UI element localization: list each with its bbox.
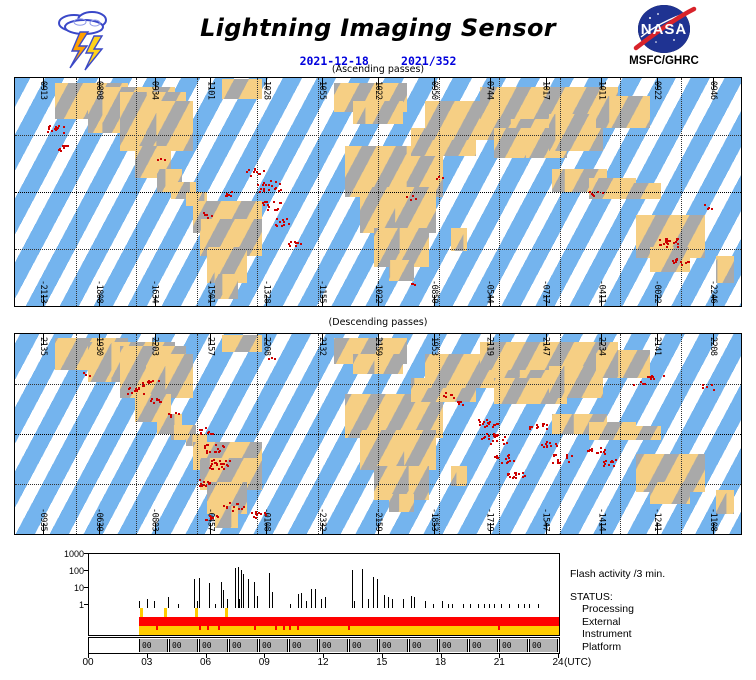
land-shape: [146, 354, 193, 398]
flash-point: [264, 512, 266, 514]
flash-point: [226, 464, 228, 466]
orbit-time-label: -1108: [708, 508, 718, 531]
legend-status-platform: Platform: [570, 641, 665, 654]
flash-point: [651, 375, 653, 377]
flash-point: [199, 479, 201, 481]
flash-point: [543, 423, 545, 425]
flash-point: [713, 389, 715, 391]
flash-point: [518, 473, 520, 475]
orbit-time-label: 1101: [205, 81, 215, 99]
land-shape: [222, 335, 262, 352]
platform-orbit-block: 00: [409, 639, 438, 652]
ascending-passes-map[interactable]: 0913080809341101102810551022095007441017…: [14, 77, 742, 307]
y-axis-tick-label: 100: [69, 566, 84, 576]
land-swath-overlay: [451, 466, 467, 486]
flash-point: [613, 465, 615, 467]
flash-bar: [235, 568, 236, 609]
flash-point: [63, 126, 65, 128]
flash-point: [204, 447, 206, 449]
chart-legend: Flash activity /3 min. STATUS: Processin…: [570, 568, 665, 653]
flash-point: [676, 259, 678, 261]
orbit-time-label: 1011: [596, 81, 606, 99]
flash-point: [279, 183, 281, 185]
flash-point: [295, 245, 297, 247]
land-shape: [650, 247, 690, 272]
equator-line: [15, 192, 741, 193]
flash-point: [571, 455, 573, 457]
flash-point: [164, 159, 166, 161]
x-axis-tick-label: 15: [372, 657, 392, 668]
flash-point: [150, 400, 152, 402]
flash-bar: [194, 579, 195, 609]
x-axis-tick-label: 06: [196, 657, 216, 668]
flash-bar: [384, 595, 385, 609]
flash-activity-chart[interactable]: 1000100101 0000000000000000000000000000 …: [88, 553, 558, 645]
flash-point: [556, 445, 558, 447]
flash-point: [222, 445, 224, 447]
flash-point: [711, 384, 713, 386]
orbit-time-label: 1953: [429, 337, 439, 355]
flash-point: [484, 436, 486, 438]
flash-point: [275, 181, 277, 183]
land-swath-overlay: [650, 247, 690, 272]
orbit-time-label: 2159: [373, 337, 383, 355]
flash-point: [218, 451, 220, 453]
flash-point: [56, 128, 58, 130]
flash-point: [488, 435, 490, 437]
land-shape: [451, 466, 467, 486]
flash-point: [650, 378, 652, 380]
flash-point: [127, 393, 129, 395]
flash-point: [131, 392, 133, 394]
flash-point: [178, 413, 180, 415]
flash-point: [279, 221, 281, 223]
flash-point: [276, 225, 278, 227]
flash-point: [216, 463, 218, 465]
flash-point: [673, 262, 675, 264]
flash-point: [600, 447, 602, 449]
orbit-time-label: 0744: [485, 81, 495, 99]
flash-point: [290, 241, 292, 243]
flash-point: [415, 198, 417, 200]
flash-point: [566, 457, 568, 459]
platform-orbit-block: 00: [169, 639, 198, 652]
land-shape: [621, 426, 661, 440]
flash-point: [274, 188, 276, 190]
flash-point: [267, 209, 269, 211]
flash-point: [503, 443, 505, 445]
platform-orbit-block: 00: [229, 639, 258, 652]
flash-point: [546, 445, 548, 447]
flash-point: [253, 171, 255, 173]
orbit-time-label: 2147: [541, 337, 551, 355]
platform-orbit-block: 00: [499, 639, 528, 652]
platform-orbit-block: 00: [199, 639, 228, 652]
orbit-time-label: 2157: [205, 337, 215, 355]
flash-point: [48, 128, 50, 130]
flash-point: [497, 457, 499, 459]
orbit-time-label: -2113: [38, 280, 48, 303]
flash-point: [688, 261, 690, 263]
status-flag: [156, 626, 158, 630]
flash-bar: [298, 594, 299, 609]
flash-point: [453, 397, 455, 399]
flash-point: [642, 383, 644, 385]
orbit-time-label: 0808: [94, 81, 104, 99]
flash-point: [553, 454, 555, 456]
orbit-time-label: -0717: [541, 280, 551, 303]
land-shape: [716, 256, 734, 283]
flash-point: [51, 130, 53, 132]
flash-point: [233, 506, 235, 508]
land-swath-overlay: [146, 354, 193, 398]
orbit-time-label: -0803: [150, 508, 160, 531]
flash-point: [504, 436, 506, 438]
legend-status-heading: STATUS:: [570, 591, 665, 604]
status-flag: [498, 626, 500, 630]
flash-point: [231, 191, 233, 193]
flash-point: [237, 503, 239, 505]
flash-point: [676, 238, 678, 240]
flash-point: [158, 380, 160, 382]
flash-point: [479, 421, 481, 423]
flash-point: [209, 482, 211, 484]
flash-point: [203, 484, 205, 486]
orbit-time-label: -0544: [485, 280, 495, 303]
orbit-time-label: -2332: [317, 508, 327, 531]
flash-point: [704, 204, 706, 206]
flash-point: [488, 438, 490, 440]
flash-point: [212, 517, 214, 519]
flash-bar: [221, 582, 222, 609]
flash-point: [279, 202, 281, 204]
flash-point: [559, 462, 561, 464]
flash-point: [223, 505, 225, 507]
flash-point: [213, 459, 215, 461]
flash-point: [58, 149, 60, 151]
flash-point: [268, 206, 270, 208]
land-swath-overlay: [650, 482, 690, 504]
flash-point: [238, 508, 240, 510]
flash-point: [226, 507, 228, 509]
flash-point: [268, 189, 270, 191]
orbit-time-label: 0913: [38, 81, 48, 99]
flash-point: [555, 454, 557, 456]
flash-point: [204, 214, 206, 216]
orbit-time-label: 1930: [94, 337, 104, 355]
flash-bar: [377, 579, 378, 609]
flash-point: [255, 517, 257, 519]
flash-point: [702, 387, 704, 389]
flash-bar: [223, 590, 224, 609]
orbit-time-label: -1328: [261, 280, 271, 303]
flash-point: [711, 208, 713, 210]
flash-point: [260, 513, 262, 515]
flash-point: [481, 438, 483, 440]
flash-bar: [209, 583, 210, 609]
land-shape: [222, 79, 262, 98]
flash-point: [451, 394, 453, 396]
land-swath-overlay: [360, 187, 436, 233]
flash-point: [147, 381, 149, 383]
orbit-time-label: 2208: [708, 337, 718, 355]
flash-point: [241, 508, 243, 510]
flash-point: [680, 261, 682, 263]
orbit-time-label: -0850: [429, 280, 439, 303]
flash-point: [229, 460, 231, 462]
flash-bar: [243, 574, 244, 609]
flash-point: [47, 131, 49, 133]
status-span: [139, 617, 559, 626]
land-shape: [451, 228, 467, 251]
status-flag: [289, 626, 291, 630]
orbit-time-label: 0922: [652, 81, 662, 99]
x-axis-tick-label: 03: [137, 657, 157, 668]
flash-point: [283, 224, 285, 226]
flash-bar: [373, 577, 374, 609]
flash-point: [62, 145, 64, 147]
flash-point: [175, 412, 177, 414]
y-axis-tick-label: 1: [79, 600, 84, 610]
flash-point: [263, 170, 265, 172]
flash-point: [207, 217, 209, 219]
land-swath-overlay: [389, 260, 414, 281]
y-axis-tick: [84, 570, 88, 571]
x-axis-tick-label: 18: [431, 657, 451, 668]
flash-point: [159, 401, 161, 403]
land-shape: [146, 101, 193, 151]
flash-point: [536, 427, 538, 429]
flash-point: [522, 472, 524, 474]
legend-status-instrument: Instrument: [570, 628, 665, 641]
orbit-time-label: 1022: [373, 81, 383, 99]
descending-passes-map[interactable]: 2135193022032157220821322159195321192147…: [14, 333, 742, 535]
flash-point: [505, 458, 507, 460]
flash-point: [89, 375, 91, 377]
flash-point: [207, 444, 209, 446]
flash-point: [509, 460, 511, 462]
flash-point: [205, 485, 207, 487]
flash-point: [216, 515, 218, 517]
flash-point: [591, 450, 593, 452]
y-axis-tick-label: 10: [74, 583, 84, 593]
flash-bar: [269, 573, 270, 609]
flash-point: [666, 246, 668, 248]
flash-point: [482, 423, 484, 425]
platform-orbit-block: 00: [379, 639, 408, 652]
flash-point: [160, 158, 162, 160]
orbit-time-label: 2119: [485, 337, 495, 355]
flash-point: [524, 475, 526, 477]
land-swath-overlay: [621, 426, 661, 440]
flash-point: [270, 180, 272, 182]
flash-point: [265, 201, 267, 203]
flash-point: [497, 434, 499, 436]
flash-point: [215, 451, 217, 453]
orbit-time-label: -0411: [596, 280, 606, 303]
flash-point: [615, 459, 617, 461]
flash-bar: [254, 582, 255, 609]
flash-point: [659, 239, 661, 241]
platform-orbit-block: 00: [349, 639, 378, 652]
flash-point: [493, 433, 495, 435]
flash-point: [412, 283, 414, 285]
flash-point: [156, 398, 158, 400]
flash-point: [591, 448, 593, 450]
flash-point: [445, 396, 447, 398]
orbit-time-label: 1028: [261, 81, 271, 99]
flash-point: [267, 204, 269, 206]
legend-status-external: External: [570, 616, 665, 629]
flash-point: [492, 426, 494, 428]
flash-bar: [248, 579, 249, 609]
flash-point: [708, 207, 710, 209]
descending-passes-subtitle: (Descending passes): [0, 317, 756, 328]
flash-point: [274, 358, 276, 360]
flash-point: [602, 192, 604, 194]
page-header: Lightning Imaging Sensor 2021-12-18 2021…: [0, 0, 756, 78]
platform-orbit-block: 00: [139, 639, 168, 652]
flash-point: [410, 199, 412, 201]
y-axis-tick-label: 1000: [64, 549, 84, 559]
land-shape: [360, 187, 436, 233]
status-flag: [218, 626, 220, 630]
flash-point: [611, 460, 613, 462]
flash-bar: [352, 570, 353, 609]
flash-point: [274, 209, 276, 211]
land-shape: [389, 260, 414, 281]
y-axis-tick: [84, 587, 88, 588]
flash-point: [263, 190, 265, 192]
flash-point: [262, 184, 264, 186]
flash-point: [506, 442, 508, 444]
flash-point: [205, 427, 207, 429]
flash-point: [259, 191, 261, 193]
platform-orbit-block: 00: [439, 639, 468, 652]
flash-point: [644, 383, 646, 385]
flash-point: [153, 402, 155, 404]
flash-point: [665, 240, 667, 242]
land-swath-overlay: [360, 430, 436, 470]
flash-point: [663, 243, 665, 245]
orbit-time-label: 2234: [596, 337, 606, 355]
flash-point: [633, 384, 635, 386]
flash-point: [460, 401, 462, 403]
land-swath-overlay: [215, 274, 238, 299]
land-swath-overlay: [146, 101, 193, 151]
orbit-time-label: -1414: [596, 508, 606, 531]
orbit-time-label: -1022: [373, 280, 383, 303]
flash-point: [496, 440, 498, 442]
flash-point: [600, 451, 602, 453]
orbit-time-label: -1853: [429, 508, 439, 531]
flash-point: [258, 173, 260, 175]
flash-point: [212, 433, 214, 435]
flash-point: [412, 195, 414, 197]
orbit-time-label: -1241: [652, 508, 662, 531]
flash-point: [65, 145, 67, 147]
flash-point: [568, 461, 570, 463]
flash-point: [265, 184, 267, 186]
x-axis-tick-label: 00: [78, 657, 98, 668]
flash-point: [546, 424, 548, 426]
land-shape: [389, 494, 414, 512]
flash-point: [142, 385, 144, 387]
flash-point: [170, 416, 172, 418]
land-swath-overlay: [716, 490, 734, 514]
flash-point: [201, 429, 203, 431]
flash-point: [557, 459, 559, 461]
flash-point: [513, 460, 515, 462]
flash-point: [289, 245, 291, 247]
x-axis-unit-label: (UTC): [564, 657, 614, 668]
flash-point: [152, 380, 154, 382]
flash-point: [608, 464, 610, 466]
flash-point: [129, 387, 131, 389]
grid-line-horizontal: [15, 484, 741, 485]
legend-flash-activity: Flash activity /3 min.: [570, 568, 665, 581]
flash-point: [210, 465, 212, 467]
flash-point: [675, 261, 677, 263]
flash-point: [506, 462, 508, 464]
status-flag: [348, 626, 350, 630]
flash-point: [549, 442, 551, 444]
status-spike: [225, 608, 228, 617]
flash-point: [667, 243, 669, 245]
flash-point: [515, 477, 517, 479]
status-flag: [254, 626, 256, 630]
flash-point: [593, 195, 595, 197]
flash-point: [49, 125, 51, 127]
platform-orbit-block: 00: [319, 639, 348, 652]
flash-point: [281, 225, 283, 227]
orbit-time-label: -2246: [708, 280, 718, 303]
flash-point: [229, 502, 231, 504]
flash-point: [502, 439, 504, 441]
flash-point: [300, 243, 302, 245]
flash-point: [672, 260, 674, 262]
land-swath-overlay: [222, 79, 262, 98]
status-flag: [275, 626, 277, 630]
flash-point: [604, 453, 606, 455]
orbit-time-label: 2141: [652, 337, 662, 355]
orbit-time-label: 2132: [317, 337, 327, 355]
orbit-time-label: 0934: [150, 81, 160, 99]
status-flag: [297, 626, 299, 630]
flash-point: [677, 243, 679, 245]
land-swath-overlay: [716, 256, 734, 283]
flash-point: [232, 510, 234, 512]
flash-point: [438, 176, 440, 178]
equator-line: [15, 434, 741, 435]
flash-point: [250, 175, 252, 177]
flash-point: [509, 476, 511, 478]
flash-point: [297, 242, 299, 244]
flash-point: [685, 262, 687, 264]
orbit-time-label: 1055: [317, 81, 327, 99]
flash-bar: [272, 592, 273, 609]
flash-point: [552, 462, 554, 464]
flash-bar: [241, 570, 242, 609]
flash-point: [228, 194, 230, 196]
flash-point: [677, 246, 679, 248]
flash-point: [442, 177, 444, 179]
flash-point: [143, 393, 145, 395]
orbit-time-label: -1547: [541, 508, 551, 531]
orbit-time-label: -1501: [205, 280, 215, 303]
flash-point: [265, 514, 267, 516]
flash-point: [541, 444, 543, 446]
